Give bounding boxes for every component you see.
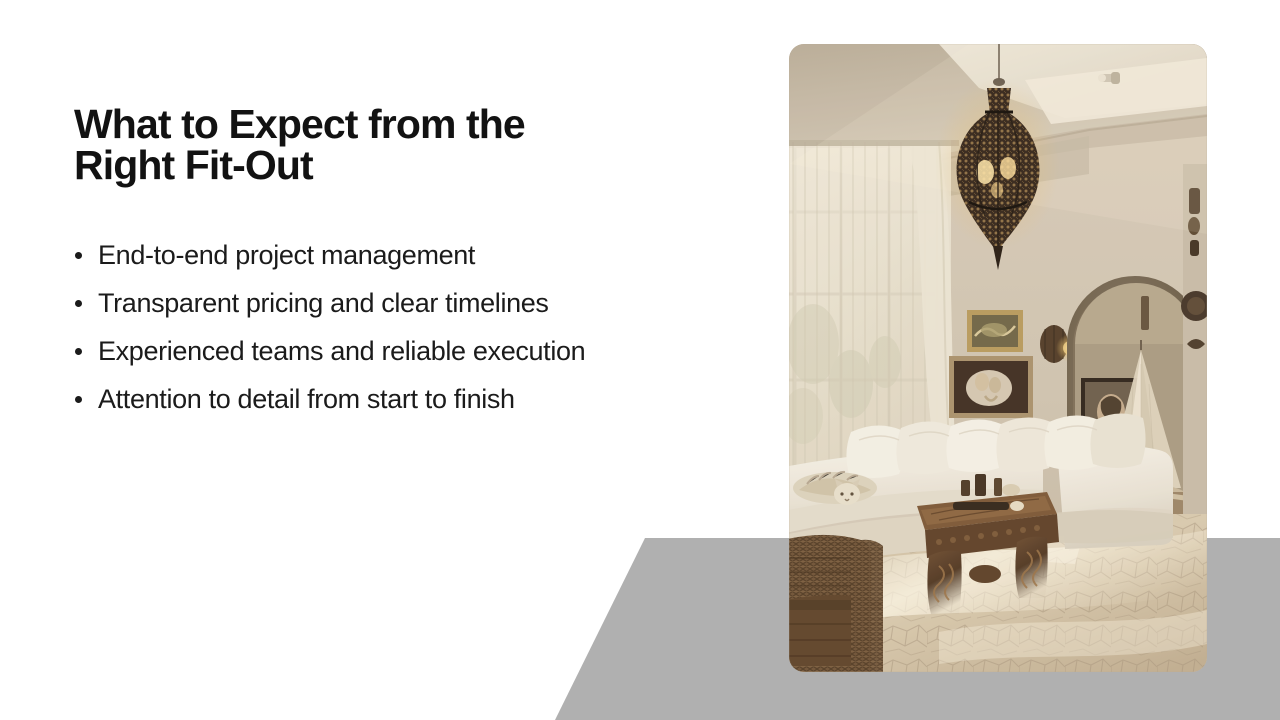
bullet-dot-icon (75, 252, 82, 259)
benefits-list: End-to-end project management Transparen… (75, 242, 775, 413)
list-item: End-to-end project management (75, 242, 775, 269)
bullet-dot-icon (75, 396, 82, 403)
text-column: What to Expect from the Right Fit-Out En… (74, 104, 734, 186)
list-item-label: Experienced teams and reliable execution (98, 336, 585, 366)
list-item: Transparent pricing and clear timelines (75, 290, 775, 317)
bullet-dot-icon (75, 300, 82, 307)
slide-root: What to Expect from the Right Fit-Out En… (0, 0, 1280, 720)
list-item: Experienced teams and reliable execution (75, 338, 775, 365)
list-item-label: Attention to detail from start to finish (98, 384, 515, 414)
interior-photo-illustration (789, 44, 1207, 672)
page-title: What to Expect from the Right Fit-Out (74, 104, 614, 186)
list-item-label: Transparent pricing and clear timelines (98, 288, 549, 318)
list-item: Attention to detail from start to finish (75, 386, 775, 413)
interior-living-room-photo (789, 44, 1207, 672)
bullet-dot-icon (75, 348, 82, 355)
list-item-label: End-to-end project management (98, 240, 475, 270)
